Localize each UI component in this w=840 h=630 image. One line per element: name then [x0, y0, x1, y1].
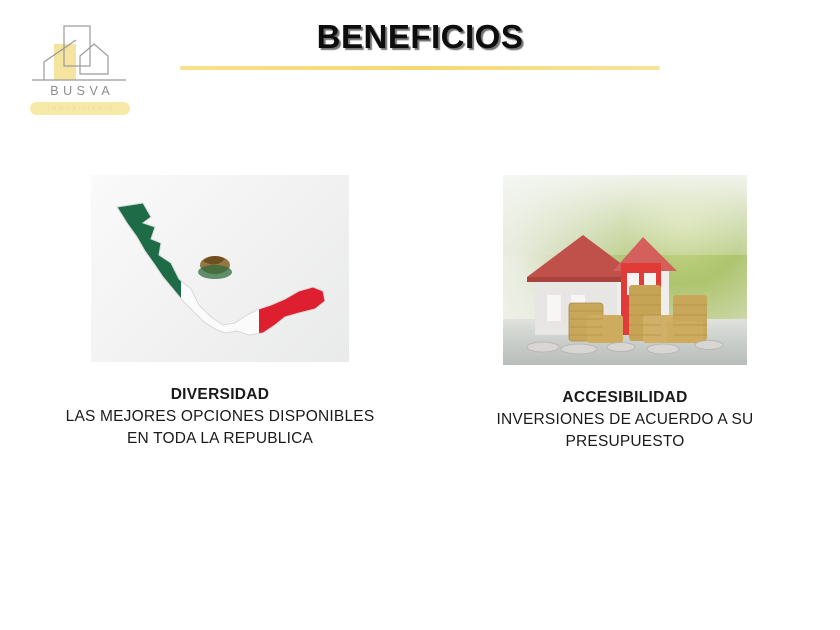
- benefit-body-line-1: LAS MEJORES OPCIONES DISPONIBLES: [20, 406, 420, 428]
- mexico-map-flag-image: [91, 175, 349, 362]
- logo-wordmark: BUSVA: [24, 84, 136, 98]
- benefit-caption-accesibilidad: ACCESIBILIDAD INVERSIONES DE ACUERDO A S…: [430, 387, 820, 453]
- page-title: BENEFICIOS: [0, 18, 840, 56]
- benefit-body-line-1: INVERSIONES DE ACUERDO A SU: [430, 409, 820, 431]
- house-with-coins-illustration: [517, 211, 735, 361]
- mexican-eagle-emblem: [198, 256, 232, 279]
- title-underline-rule: [180, 66, 660, 70]
- benefit-heading: ACCESIBILIDAD: [430, 387, 820, 409]
- coin-stack-6: [667, 321, 703, 343]
- benefit-caption-diversidad: DIVERSIDAD LAS MEJORES OPCIONES DISPONIB…: [20, 384, 420, 450]
- benefit-body-line-2: EN TODA LA REPUBLICA: [20, 428, 420, 450]
- logo-subtitle: INMOBILIARIA: [30, 103, 130, 114]
- house-and-coins-image: [503, 175, 747, 365]
- benefit-column-accesibilidad: ACCESIBILIDAD INVERSIONES DE ACUERDO A S…: [430, 175, 820, 453]
- benefit-body-line-2: PRESUPUESTO: [430, 431, 820, 453]
- benefit-heading: DIVERSIDAD: [20, 384, 420, 406]
- mexico-map-shape: [99, 193, 341, 345]
- benefit-column-diversidad: DIVERSIDAD LAS MEJORES OPCIONES DISPONIB…: [20, 175, 420, 450]
